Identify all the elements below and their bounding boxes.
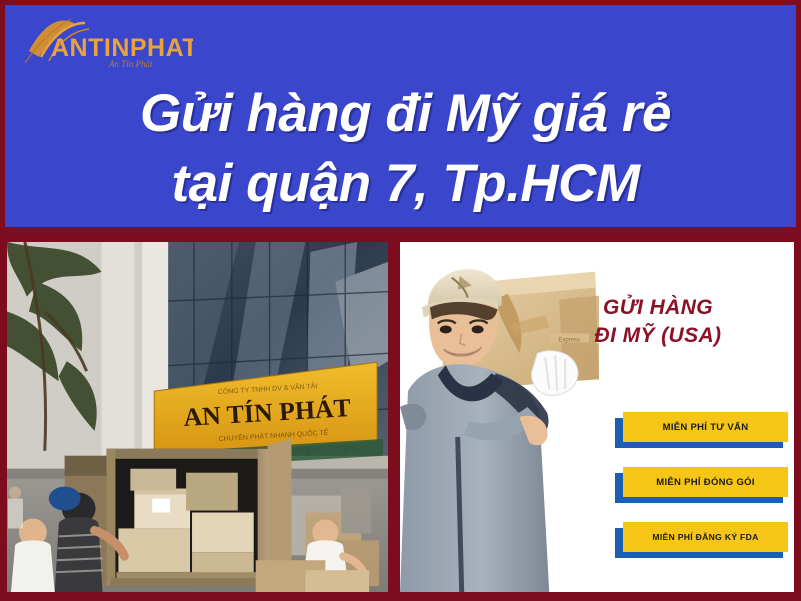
badge-label-3: MIỄN PHÍ ĐĂNG KÝ FDA (652, 532, 758, 542)
delivery-uniform (400, 364, 549, 592)
title-line-2: tại quận 7, Tp.HCM (5, 149, 801, 219)
promo-badge-3: MIỄN PHÍ ĐĂNG KÝ FDA (615, 522, 790, 554)
svg-text:An Tín Phát: An Tín Phát (108, 59, 153, 69)
svg-text:Express: Express (558, 337, 580, 343)
poster-root: ANTINPHAT An Tín Phát Gửi hàng đi Mỹ giá… (0, 0, 801, 601)
badge-label-1: MIỄN PHÍ TƯ VẤN (663, 422, 749, 433)
header-background: ANTINPHAT An Tín Phát Gửi hàng đi Mỹ giá… (5, 5, 796, 227)
photo-truck-loading: AN TÍN PHÁT CÔNG TY TNHH DV & VẬN TẢI CH… (6, 241, 389, 593)
poster-title: Gửi hàng đi Mỹ giá rẻ tại quận 7, Tp.HCM (5, 79, 801, 219)
promo-badge-list: MIỄN PHÍ TƯ VẤN MIỄN PHÍ ĐÓNG GÓI MIỄN P… (615, 412, 790, 577)
photo-strip: AN TÍN PHÁT CÔNG TY TNHH DV & VẬN TẢI CH… (0, 232, 801, 601)
promo-badge-2: MIỄN PHÍ ĐÓNG GÓI (615, 467, 790, 499)
svg-text:ANTINPHAT: ANTINPHAT (51, 34, 193, 62)
gloved-hand (531, 351, 578, 396)
badge-free-packing: MIỄN PHÍ ĐÓNG GÓI (623, 467, 788, 497)
badge-free-consultation: MIỄN PHÍ TƯ VẤN (623, 412, 788, 442)
company-logo: ANTINPHAT An Tín Phát (23, 11, 193, 73)
photo-promo-delivery-man: Express (399, 241, 795, 593)
badge-free-fda-registration: MIỄN PHÍ ĐĂNG KÝ FDA (623, 522, 788, 552)
promo-badge-1: MIỄN PHÍ TƯ VẤN (615, 412, 790, 444)
badge-label-2: MIỄN PHÍ ĐÓNG GÓI (656, 477, 755, 488)
title-line-1: Gửi hàng đi Mỹ giá rẻ (5, 79, 801, 149)
header-banner: ANTINPHAT An Tín Phát Gửi hàng đi Mỹ giá… (0, 0, 801, 232)
